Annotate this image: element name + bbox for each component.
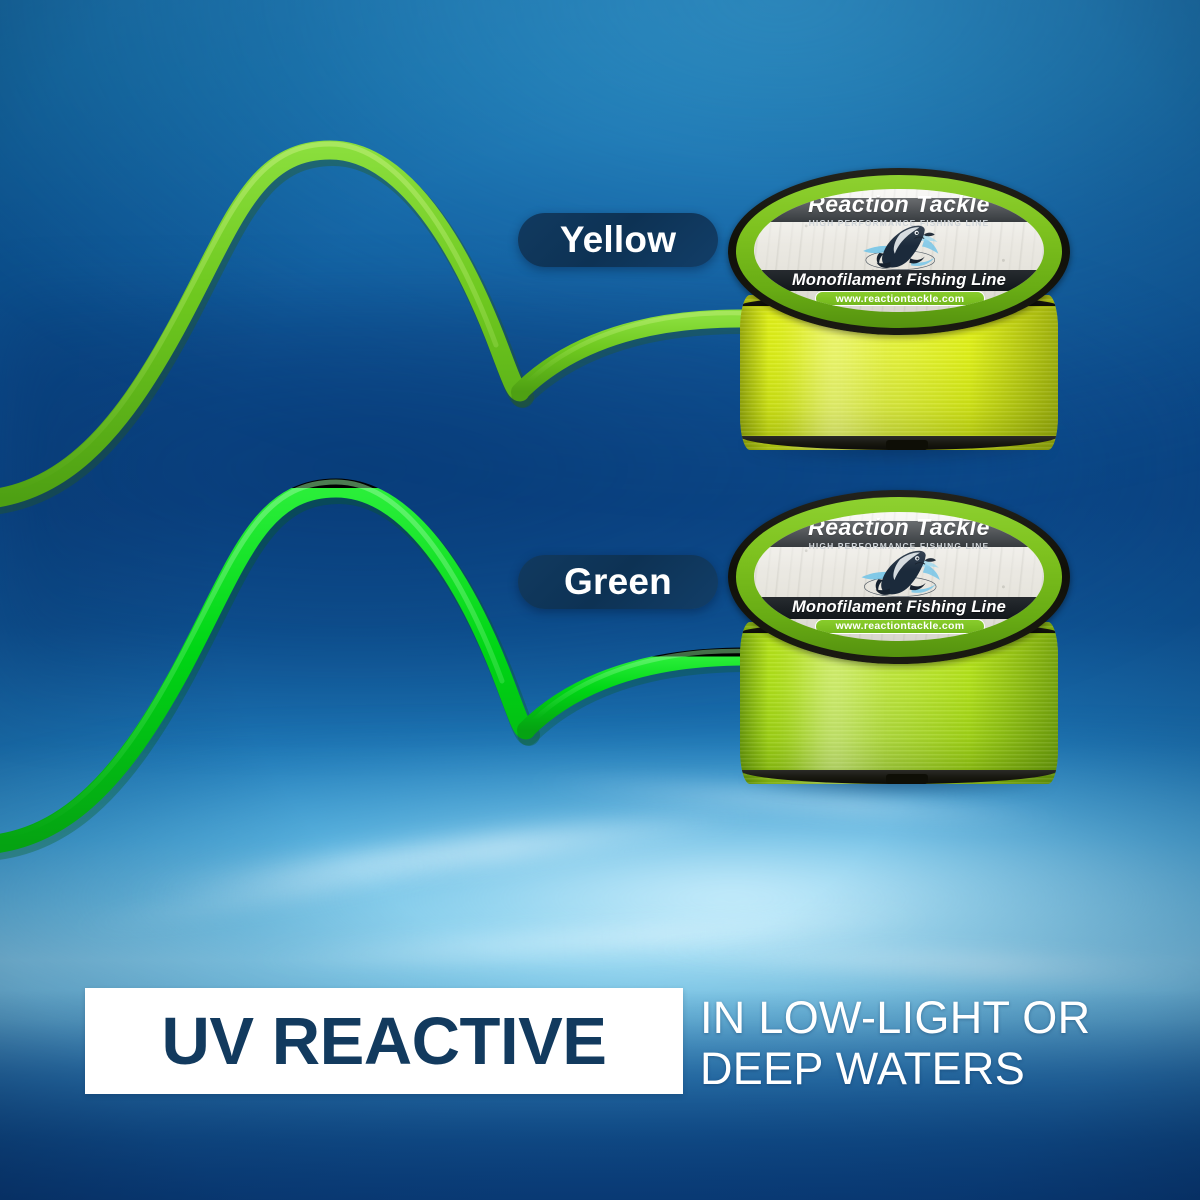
brand-name: Reaction Tackle bbox=[808, 516, 990, 539]
spool-seam-bottom bbox=[886, 774, 927, 784]
uv-reactive-headline-block: UV REACTIVE bbox=[85, 988, 683, 1094]
wave-green bbox=[0, 482, 828, 850]
spool-label-face: Reaction Tackle HIGH PERFORMANCE FISHING… bbox=[754, 512, 1044, 641]
brand-url: www.reactiontackle.com bbox=[836, 620, 965, 632]
product-name: Monofilament Fishing Line bbox=[792, 598, 1006, 617]
spool-label-face: Reaction Tackle HIGH PERFORMANCE FISHING… bbox=[754, 189, 1044, 313]
banner-subtext-line-1: IN LOW-LIGHT OR bbox=[700, 992, 1090, 1043]
banner-subtext: IN LOW-LIGHT OR DEEP WATERS bbox=[700, 992, 1170, 1095]
label-brand-band: Reaction Tackle HIGH PERFORMANCE FISHING… bbox=[754, 521, 1044, 547]
label-brand-band: Reaction Tackle HIGH PERFORMANCE FISHING… bbox=[754, 198, 1044, 223]
bottom-banner: UV REACTIVE IN LOW-LIGHT OR DEEP WATERS bbox=[0, 975, 1200, 1110]
banner-subtext-line-2: DEEP WATERS bbox=[700, 1043, 1170, 1094]
label-product-band: Monofilament Fishing Line bbox=[754, 270, 1044, 291]
spool-label-disc-yellow: Reaction Tackle HIGH PERFORMANCE FISHING… bbox=[728, 168, 1070, 335]
callout-badge-green[interactable]: Green bbox=[518, 555, 718, 609]
brand-name: Reaction Tackle bbox=[808, 193, 990, 216]
callout-badge-yellow[interactable]: Yellow bbox=[518, 213, 718, 267]
callout-badge-yellow-label: Yellow bbox=[560, 219, 676, 261]
leaping-bass-fish-icon bbox=[818, 547, 986, 604]
product-name: Monofilament Fishing Line bbox=[792, 271, 1006, 290]
spool-label-disc-green: Reaction Tackle HIGH PERFORMANCE FISHING… bbox=[728, 490, 1070, 664]
label-url-pill[interactable]: www.reactiontackle.com bbox=[815, 291, 985, 306]
product-spool-green[interactable]: Reaction Tackle HIGH PERFORMANCE FISHING… bbox=[728, 490, 1070, 790]
label-url-pill[interactable]: www.reactiontackle.com bbox=[815, 619, 985, 635]
callout-badge-green-label: Green bbox=[564, 561, 672, 603]
wave-yellow bbox=[0, 144, 822, 505]
product-spool-yellow[interactable]: Reaction Tackle HIGH PERFORMANCE FISHING… bbox=[728, 168, 1070, 456]
uv-reactive-headline: UV REACTIVE bbox=[162, 1008, 607, 1075]
leaping-bass-fish-icon bbox=[818, 222, 986, 276]
spool-seam-bottom bbox=[886, 440, 927, 450]
label-product-band: Monofilament Fishing Line bbox=[754, 597, 1044, 619]
brand-url: www.reactiontackle.com bbox=[836, 293, 965, 305]
product-marketing-image: Yellow Green Reaction Tackle HIGH PE bbox=[0, 0, 1200, 1200]
